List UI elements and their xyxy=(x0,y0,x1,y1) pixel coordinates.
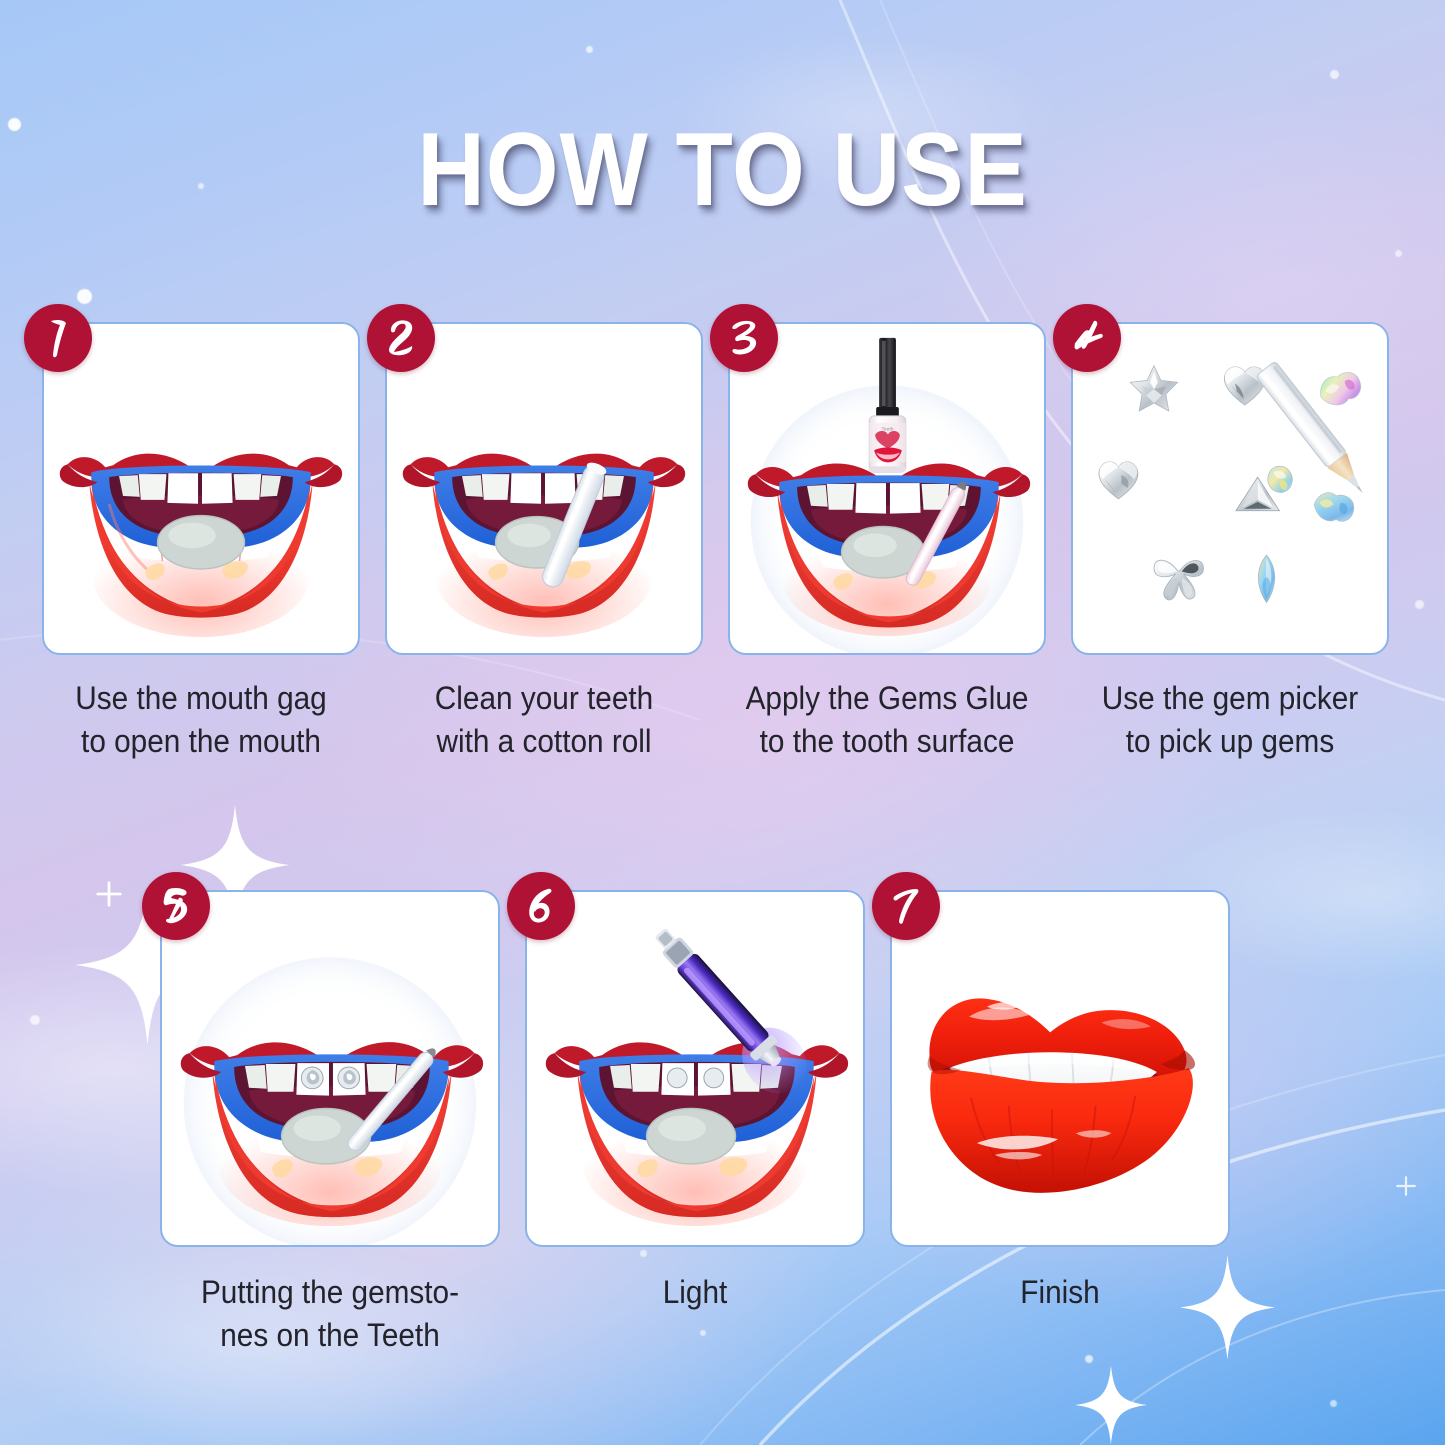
step-1-badge xyxy=(24,304,92,372)
sparkle-dot xyxy=(586,46,593,53)
step-6-badge xyxy=(507,872,575,940)
sparkle-dot xyxy=(1085,1355,1093,1363)
sparkle-plus-icon xyxy=(1395,1175,1417,1197)
butterfly-gem xyxy=(1154,560,1203,600)
mouth-gem-placement-illustration xyxy=(162,892,498,1245)
number-7-glyph xyxy=(890,886,922,926)
ab-bow-gem xyxy=(1311,490,1356,525)
steps-row-bottom: Putting the gemsto- nes on the Teeth xyxy=(160,890,1292,1356)
finished-lips-illustration xyxy=(892,892,1228,1245)
step-3: Teeth Apply the Gems Glue to the tooth s… xyxy=(728,322,1046,762)
step-7-badge xyxy=(872,872,940,940)
step-5-card xyxy=(160,890,500,1247)
placed-gem xyxy=(667,1068,687,1088)
mouth-glue-illustration: Teeth xyxy=(730,324,1044,653)
step-3-card: Teeth xyxy=(728,322,1046,655)
step-2-badge xyxy=(367,304,435,372)
step-7-caption: Finish xyxy=(902,1271,1218,1314)
number-3-glyph xyxy=(727,318,761,358)
number-6-glyph xyxy=(524,886,558,926)
step-6-caption: Light xyxy=(537,1271,853,1314)
sparkle-dot xyxy=(1330,70,1339,79)
mouth-cotton-roll-illustration xyxy=(387,324,701,653)
sparkle-dot xyxy=(77,289,92,304)
sparkle-dot xyxy=(1415,600,1424,609)
step-2: Clean your teeth with a cotton roll xyxy=(385,322,703,762)
step-5: Putting the gemsto- nes on the Teeth xyxy=(160,890,500,1356)
step-1: Use the mouth gag to open the mouth xyxy=(42,322,360,762)
number-4-glyph xyxy=(1070,318,1104,358)
mouth-retractor-illustration xyxy=(44,324,358,653)
sparkle-star-icon xyxy=(1075,1365,1147,1445)
step-3-badge xyxy=(710,304,778,372)
placed-gem xyxy=(301,1067,323,1089)
placed-gem xyxy=(704,1068,724,1088)
mouth-uv-light-illustration xyxy=(527,892,863,1245)
step-5-badge xyxy=(142,872,210,940)
step-6-card xyxy=(525,890,865,1247)
step-5-caption: Putting the gemsto- nes on the Teeth xyxy=(172,1271,488,1356)
placed-gem xyxy=(338,1067,360,1089)
step-7: Finish xyxy=(890,890,1230,1356)
step-2-card xyxy=(385,322,703,655)
marquise-gem xyxy=(1258,555,1274,602)
heart-gem xyxy=(1099,462,1138,499)
step-6: Light xyxy=(525,890,865,1356)
sparkle-dot xyxy=(30,1015,40,1025)
step-4-badge xyxy=(1053,304,1121,372)
step-3-caption: Apply the Gems Glue to the tooth surface xyxy=(739,677,1035,762)
heart-gem xyxy=(1224,367,1265,405)
ab-bow-gem xyxy=(1316,369,1365,410)
number-5-glyph xyxy=(159,886,193,926)
step-4-card xyxy=(1071,322,1389,655)
star-gem xyxy=(1130,366,1177,411)
number-2-glyph xyxy=(384,318,418,358)
step-2-caption: Clean your teeth with a cotton roll xyxy=(396,677,692,762)
step-1-card xyxy=(42,322,360,655)
step-1-caption: Use the mouth gag to open the mouth xyxy=(53,677,349,762)
small-ab-gem xyxy=(1268,466,1293,492)
step-4-caption: Use the gem picker to pick up gems xyxy=(1082,677,1378,762)
sparkle-dot xyxy=(1330,1400,1337,1407)
page-title: HOW TO USE xyxy=(72,118,1373,222)
sparkle-plus-icon xyxy=(95,880,123,908)
step-7-card xyxy=(890,890,1230,1247)
number-1-glyph xyxy=(43,317,73,359)
step-4: Use the gem picker to pick up gems xyxy=(1071,322,1389,762)
gems-picker-illustration xyxy=(1073,324,1387,653)
sparkle-dot xyxy=(8,118,21,131)
steps-row-top: Use the mouth gag to open the mouth xyxy=(42,322,1410,762)
sparkle-dot xyxy=(1395,250,1402,257)
